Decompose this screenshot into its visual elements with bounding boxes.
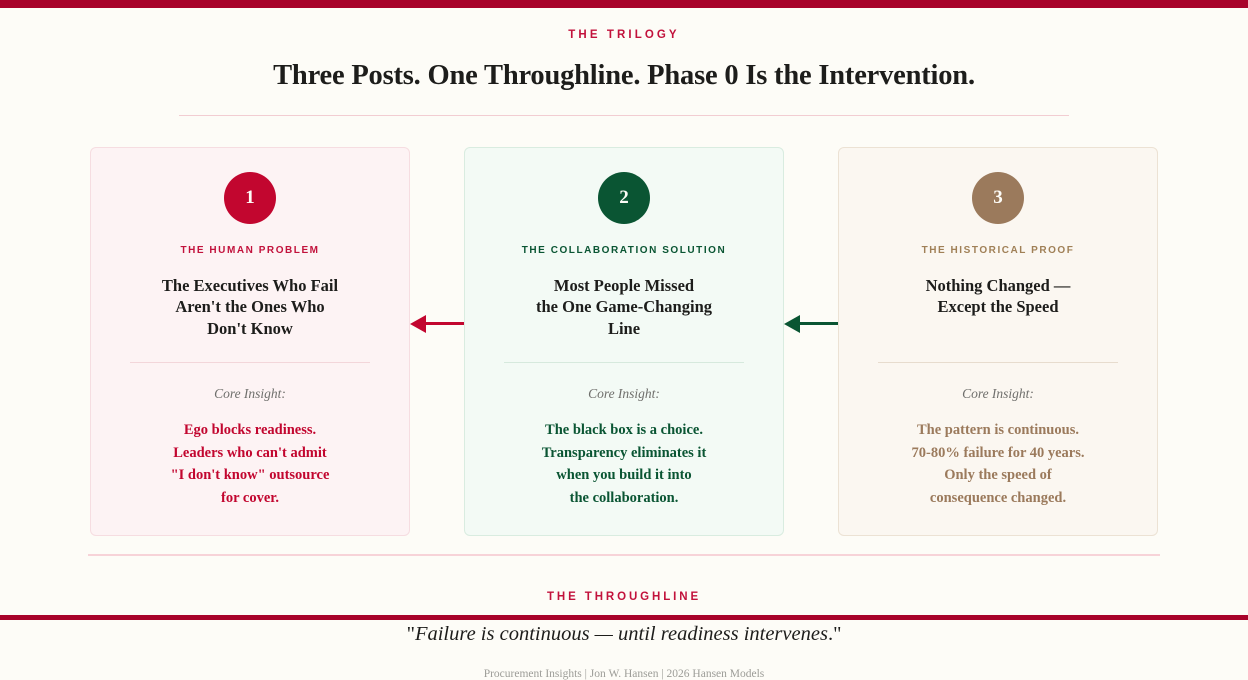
card-title-line: the One Game-Changing — [493, 296, 755, 318]
card-divider-1 — [130, 362, 370, 363]
core-insight-label-1: Core Insight: — [119, 386, 381, 402]
card-kicker-3: The Historical Proof — [867, 246, 1129, 256]
infographic-page: The Trilogy Three Posts. One Throughline… — [0, 8, 1248, 615]
card-insight-line: Transparency eliminates it — [493, 442, 755, 464]
quote-close-mark: ." — [828, 623, 842, 645]
card-insight-line: "I don't know" outsource — [119, 464, 381, 486]
card-title-line: Except the Speed — [867, 296, 1129, 318]
top-accent-rule — [0, 0, 1248, 8]
card-historical-proof[interactable]: 3 The Historical Proof Nothing Changed —… — [838, 147, 1158, 537]
card-insight-line: The pattern is continuous. — [867, 419, 1129, 441]
card-divider-3 — [878, 362, 1118, 363]
page-title: Three Posts. One Throughline. Phase 0 Is… — [0, 60, 1248, 92]
quote-body: Failure is continuous — until readiness … — [415, 623, 828, 645]
card-badge-3: 3 — [972, 172, 1024, 224]
card-title-3: Nothing Changed — Except the Speed — [867, 275, 1129, 319]
card-title-line: Most People Missed — [493, 275, 755, 297]
card-collaboration-solution[interactable]: 2 The Collaboration Solution Most People… — [464, 147, 784, 537]
card-title-line: Aren't the Ones Who — [119, 296, 381, 318]
card-badge-number: 1 — [245, 187, 255, 209]
footer-eyebrow: The Throughline — [0, 592, 1248, 604]
card-title-1: The Executives Who Fail Aren't the Ones … — [119, 275, 381, 341]
card-badge-2: 2 — [598, 172, 650, 224]
card-title-line: Don't Know — [119, 318, 381, 340]
card-insight-line: when you build it into — [493, 464, 755, 486]
header-divider — [179, 115, 1069, 116]
connector-1-to-2 — [410, 147, 464, 537]
arrow-shaft — [426, 322, 464, 325]
arrow-shaft — [800, 322, 838, 325]
arrow-left-icon — [410, 315, 464, 333]
card-insight-line: for cover. — [119, 487, 381, 509]
card-insight-line: Leaders who can't admit — [119, 442, 381, 464]
core-insight-label-2: Core Insight: — [493, 386, 755, 402]
card-insight-line: Ego blocks readiness. — [119, 419, 381, 441]
card-human-problem[interactable]: 1 The Human Problem The Executives Who F… — [90, 147, 410, 537]
card-insight-2: The black box is a choice. Transparency … — [493, 419, 755, 509]
header: The Trilogy Three Posts. One Throughline… — [0, 8, 1248, 116]
footer-divider — [88, 554, 1160, 556]
connector-2-to-3 — [784, 147, 838, 537]
core-insight-label-3: Core Insight: — [867, 386, 1129, 402]
card-title-line: Line — [493, 318, 755, 340]
cards-row: 1 The Human Problem The Executives Who F… — [0, 147, 1248, 537]
card-kicker-1: The Human Problem — [119, 246, 381, 256]
card-insight-line: consequence changed. — [867, 487, 1129, 509]
card-insight-line: The black box is a choice. — [493, 419, 755, 441]
arrow-head — [410, 315, 426, 333]
arrow-left-icon — [784, 315, 838, 333]
card-badge-number: 2 — [619, 187, 629, 209]
card-insight-line: the collaboration. — [493, 487, 755, 509]
card-insight-line: 70-80% failure for 40 years. — [867, 442, 1129, 464]
card-title-line: The Executives Who Fail — [119, 275, 381, 297]
card-badge-number: 3 — [993, 187, 1003, 209]
credit-line: Procurement Insights | Jon W. Hansen | 2… — [0, 668, 1248, 680]
arrow-head — [784, 315, 800, 333]
card-title-2: Most People Missed the One Game-Changing… — [493, 275, 755, 341]
card-badge-1: 1 — [224, 172, 276, 224]
header-eyebrow: The Trilogy — [0, 30, 1248, 42]
card-kicker-2: The Collaboration Solution — [493, 246, 755, 256]
card-divider-2 — [504, 362, 744, 363]
throughline-quote: "Failure is continuous — until readiness… — [0, 623, 1248, 646]
footer: The Throughline "Failure is continuous —… — [0, 554, 1248, 680]
card-insight-line: Only the speed of — [867, 464, 1129, 486]
card-insight-3: The pattern is continuous. 70-80% failur… — [867, 419, 1129, 509]
card-title-line: Nothing Changed — — [867, 275, 1129, 297]
quote-open-mark: " — [407, 623, 415, 645]
card-insight-1: Ego blocks readiness. Leaders who can't … — [119, 419, 381, 509]
